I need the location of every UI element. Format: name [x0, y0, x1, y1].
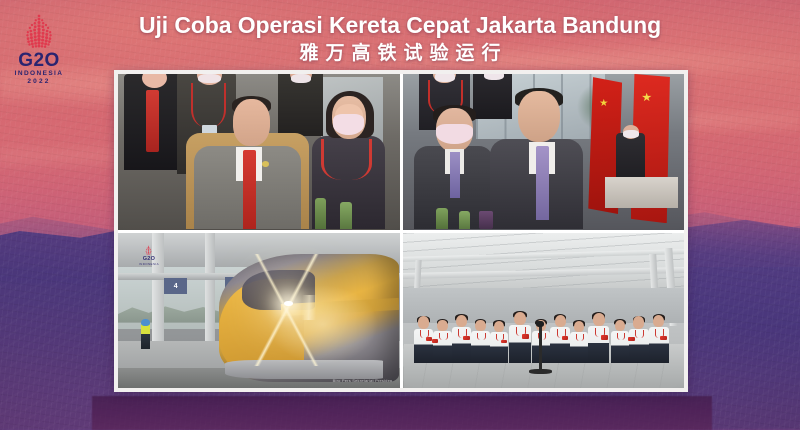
president-face: [233, 99, 270, 146]
water-bottle: [315, 198, 326, 229]
red-flag: [501, 340, 507, 344]
video-grid-frame: 4 3: [114, 70, 688, 392]
gunungan-batik-icon: [143, 245, 154, 256]
platform-worker: [141, 323, 151, 349]
face-mask-icon: [291, 74, 311, 83]
aide-tie: [450, 152, 460, 199]
crowd-person: [452, 315, 472, 363]
crowd-person: [471, 320, 489, 364]
crowd-person: [649, 315, 669, 363]
person-head: [574, 321, 584, 332]
platform-worker-helmet: [141, 319, 149, 326]
face-mask-icon: [436, 124, 473, 144]
platform-sign-4: 4: [164, 278, 187, 294]
crowd-person: [629, 316, 649, 363]
person-head: [437, 320, 447, 331]
red-flag: [463, 336, 470, 340]
lens-flare-ray: [219, 295, 399, 320]
red-lanyard: [321, 139, 372, 179]
red-flag: [522, 334, 529, 339]
lens-flare-core: [284, 301, 292, 306]
crowd-person: [414, 316, 434, 363]
water-bottle: [459, 211, 470, 230]
person-head: [593, 313, 605, 326]
video-credit-caption: Biro Pers Sekretariat Presiden: [333, 378, 393, 383]
side-table: [605, 177, 678, 208]
delegate-red-tie: [146, 90, 159, 152]
broadcast-title-cn: 雅万高铁试验运行: [0, 41, 800, 65]
person-head: [555, 315, 566, 328]
president-purple-tie: [536, 146, 549, 221]
video-grid: 4 3: [118, 74, 684, 388]
microphone-head: [536, 321, 543, 327]
video-tile-xi-jinping[interactable]: [403, 74, 685, 230]
person-head: [615, 320, 625, 331]
red-flag: [628, 337, 635, 341]
face-mask-icon: [198, 74, 221, 83]
video-tile-station-crowd[interactable]: [403, 233, 685, 389]
crowd-person: [550, 315, 570, 363]
person-head: [456, 315, 467, 328]
g20-watermark: G2O INDONESIA: [126, 238, 171, 272]
person-head: [514, 312, 526, 325]
red-lanyard: [191, 83, 226, 127]
crowd-person: [570, 321, 588, 363]
g20-watermark-country: INDONESIA: [139, 262, 159, 266]
lapel-pin: [262, 161, 269, 166]
g20-year: 2022: [27, 78, 50, 86]
red-flag: [601, 335, 608, 339]
person-head: [418, 316, 429, 328]
water-bottle: [340, 202, 351, 230]
crowd-person: [588, 313, 609, 363]
broadcast-title-id: Uji Coba Operasi Kereta Cepat Jakarta Ba…: [0, 12, 800, 39]
red-lanyard: [576, 334, 585, 341]
video-tile-high-speed-train[interactable]: 4 3: [118, 233, 400, 389]
delegate-standing-right: [278, 74, 323, 136]
crowd-person: [433, 320, 451, 364]
person-head: [653, 315, 664, 328]
person-head: [494, 321, 504, 332]
video-tile-jokowi[interactable]: [118, 74, 400, 230]
red-lanyard: [617, 333, 626, 340]
red-flag: [432, 339, 438, 343]
g20-country: INDONESIA: [15, 70, 64, 78]
red-flag: [660, 336, 667, 340]
ceiling-panel-lines: [403, 233, 685, 289]
station-pillar: [205, 233, 215, 354]
president-face: [518, 91, 560, 142]
crowd-person: [490, 321, 508, 363]
broadcast-screen: G2O INDONESIA 2022 Uji Coba Operasi Kere…: [0, 0, 800, 430]
microphone-stand: [539, 326, 542, 373]
drinking-cup: [479, 211, 493, 230]
lower-third-band: [92, 396, 712, 430]
crowd-person: [611, 320, 629, 364]
delegate-standing-center: [473, 74, 512, 119]
water-bottle: [436, 208, 447, 230]
red-lanyard: [439, 333, 448, 340]
face-mask-icon: [623, 130, 638, 138]
face-mask-icon: [333, 114, 364, 134]
person-head: [475, 320, 485, 331]
microphone-base: [529, 369, 552, 374]
president-red-tie: [243, 150, 256, 229]
crowd-person-speaker: [509, 312, 530, 363]
red-flag: [562, 336, 569, 340]
person-head: [633, 316, 644, 328]
red-lanyard: [477, 333, 486, 340]
